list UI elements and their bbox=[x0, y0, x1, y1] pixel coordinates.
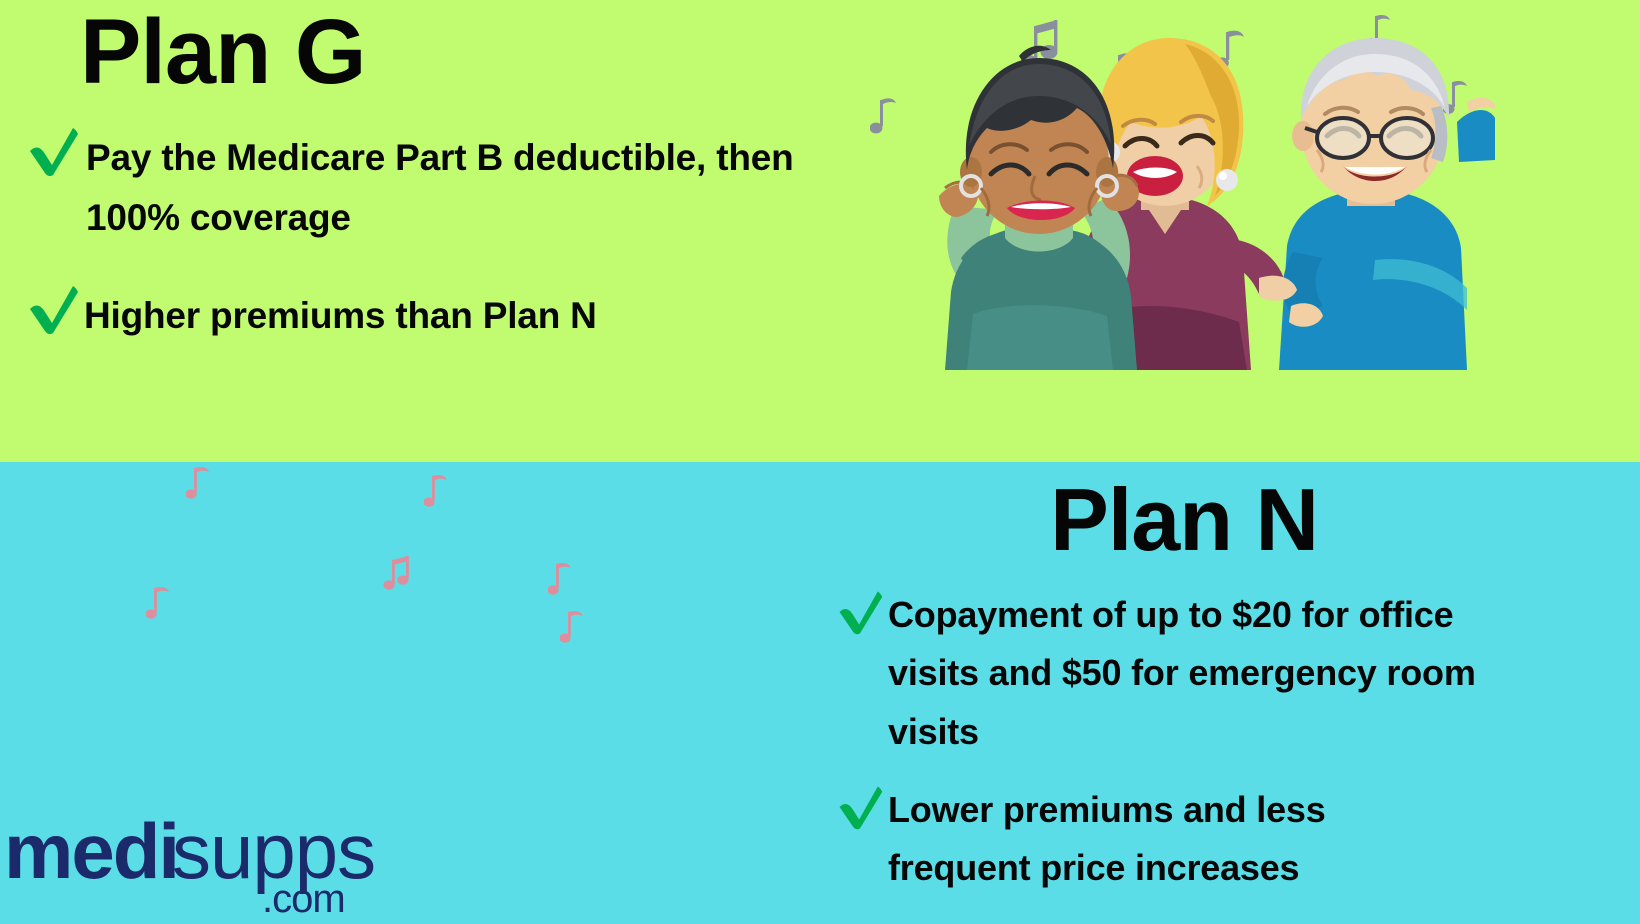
plan-g-bullet-text: Higher premiums than Plan N bbox=[80, 286, 597, 346]
plan-g-bullet-item: Higher premiums than Plan N bbox=[26, 286, 826, 346]
plan-n-bullet-text: Copayment of up to $20 for office visits… bbox=[884, 586, 1476, 761]
plan-g-panel: Plan G Pay the Medicare Part B deductibl… bbox=[0, 0, 1640, 462]
three-dancing-seniors-illustration bbox=[855, 10, 1495, 370]
plan-n-bullet-item: Lower premiums and less frequent price i… bbox=[836, 781, 1476, 898]
medisupps-logo[interactable]: medi supps .com bbox=[4, 806, 404, 916]
plan-n-title: Plan N bbox=[1050, 476, 1318, 564]
music-note-icon bbox=[548, 560, 574, 598]
dancing-man-grey-hair bbox=[1279, 38, 1495, 370]
music-note-icon bbox=[424, 472, 450, 510]
music-note-icon bbox=[383, 554, 413, 594]
plan-n-bullet-item: Copayment of up to $20 for office visits… bbox=[836, 586, 1476, 761]
plan-g-title: Plan G bbox=[80, 6, 365, 98]
plan-n-bullet-text: Lower premiums and less frequent price i… bbox=[884, 781, 1476, 898]
music-note-icon bbox=[186, 464, 212, 502]
check-icon bbox=[26, 282, 80, 336]
check-icon bbox=[26, 124, 80, 178]
plan-n-panel: Plan N Copayment of up to $20 for office… bbox=[0, 462, 1640, 924]
music-note-icon bbox=[560, 608, 586, 646]
plan-g-bullet-item: Pay the Medicare Part B deductible, then… bbox=[26, 128, 826, 248]
check-icon bbox=[836, 783, 884, 831]
plan-g-bullet-list: Pay the Medicare Part B deductible, then… bbox=[26, 128, 826, 384]
svg-text:.com: .com bbox=[262, 877, 345, 916]
music-note-icon bbox=[146, 584, 172, 622]
plan-n-bullet-list: Copayment of up to $20 for office visits… bbox=[836, 586, 1476, 918]
infographic-root: Plan G Pay the Medicare Part B deductibl… bbox=[0, 0, 1640, 924]
check-icon bbox=[836, 588, 884, 636]
svg-text:medi: medi bbox=[4, 807, 178, 895]
plan-g-bullet-text: Pay the Medicare Part B deductible, then… bbox=[80, 128, 826, 248]
